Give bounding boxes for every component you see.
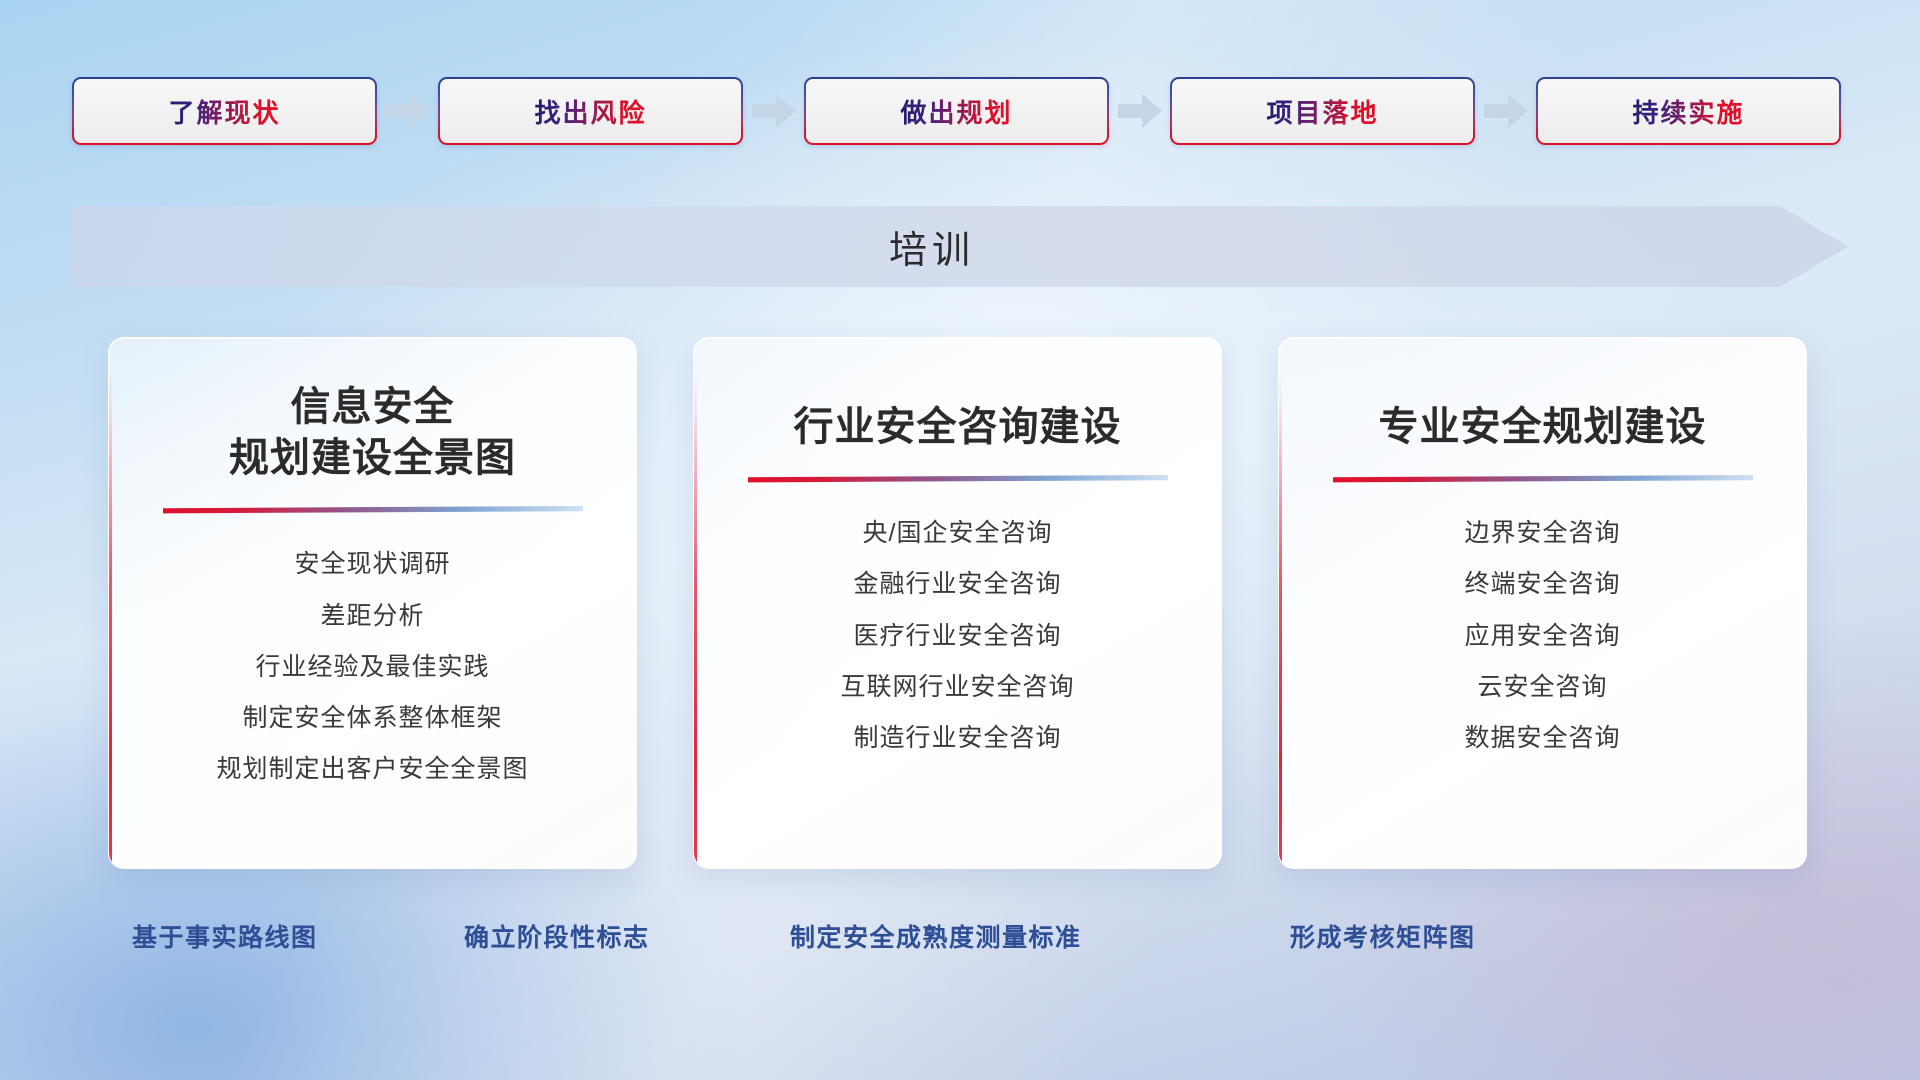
card-item-list: 央/国企安全咨询 金融行业安全咨询 医疗行业安全咨询 互联网行业安全咨询 制造行… — [840, 513, 1074, 759]
step-label: 找出风险 — [534, 93, 646, 130]
arrow-right-icon — [1475, 91, 1536, 131]
list-item: 制定安全体系整体框架 — [242, 698, 502, 739]
training-label: 培训 — [72, 206, 1848, 287]
step-box-5[interactable]: 持续实施 — [1536, 77, 1841, 145]
arrow-right-icon — [743, 91, 804, 131]
card-title: 专业安全规划建设 — [1379, 402, 1707, 453]
footer-label-2: 确立阶段性标志 — [464, 918, 650, 954]
list-item: 央/国企安全咨询 — [863, 513, 1053, 554]
card-divider — [748, 475, 1168, 483]
step-label: 项目落地 — [1266, 93, 1378, 130]
list-item: 终端安全咨询 — [1464, 564, 1620, 605]
list-item: 金融行业安全咨询 — [853, 564, 1061, 605]
step-box-inner: 了解现状 — [74, 79, 375, 143]
card-left-accent-bar — [109, 372, 112, 868]
arrow-right-icon — [1109, 91, 1170, 131]
list-item: 行业经验及最佳实践 — [255, 647, 489, 688]
list-item: 数据安全咨询 — [1464, 718, 1620, 759]
process-step-row: 了解现状 找出风险 做出规划 项目落地 — [72, 76, 1848, 146]
list-item: 差距分析 — [320, 596, 424, 637]
step-label: 了解现状 — [168, 93, 280, 130]
card-item-list: 边界安全咨询 终端安全咨询 应用安全咨询 云安全咨询 数据安全咨询 — [1464, 513, 1620, 759]
card-title: 信息安全 规划建设全景图 — [229, 382, 516, 484]
cards-row: 信息安全 规划建设全景图 安全现状调研 差距分析 行业经验及最佳实践 — [108, 337, 1848, 869]
list-item: 规划制定出客户安全全景图 — [216, 749, 528, 790]
card-title: 行业安全咨询建设 — [794, 402, 1122, 453]
arrow-right-icon — [377, 91, 438, 131]
list-item: 应用安全咨询 — [1464, 616, 1620, 657]
list-item: 医疗行业安全咨询 — [853, 616, 1061, 657]
step-label: 持续实施 — [1632, 93, 1744, 130]
footer-label-row: 基于事实路线图 确立阶段性标志 制定安全成熟度测量标准 形成考核矩阵图 — [0, 918, 1920, 964]
card-industry-security-consulting[interactable]: 行业安全咨询建设 央/国企安全咨询 金融行业安全咨询 医疗行业安全咨询 — [693, 337, 1222, 869]
list-item: 云安全咨询 — [1477, 667, 1607, 708]
card-divider — [1333, 475, 1753, 483]
list-item: 互联网行业安全咨询 — [840, 667, 1074, 708]
training-banner: 培训 — [72, 206, 1848, 287]
list-item: 制造行业安全咨询 — [853, 718, 1061, 759]
step-box-inner: 做出规划 — [806, 79, 1107, 143]
step-box-3[interactable]: 做出规划 — [804, 77, 1109, 145]
card-left-accent-bar — [1279, 372, 1282, 868]
step-box-inner: 找出风险 — [440, 79, 741, 143]
step-box-2[interactable]: 找出风险 — [438, 77, 743, 145]
list-item: 边界安全咨询 — [1464, 513, 1620, 554]
list-item: 安全现状调研 — [294, 544, 450, 585]
footer-label-4: 形成考核矩阵图 — [1290, 918, 1476, 954]
card-divider — [163, 506, 583, 514]
card-left-accent-bar — [694, 372, 697, 868]
step-label: 做出规划 — [900, 93, 1012, 130]
card-professional-security-planning[interactable]: 专业安全规划建设 边界安全咨询 终端安全咨询 应用安全咨询 云安全 — [1278, 337, 1807, 869]
footer-label-1: 基于事实路线图 — [132, 918, 318, 954]
step-box-inner: 项目落地 — [1172, 79, 1473, 143]
step-box-4[interactable]: 项目落地 — [1170, 77, 1475, 145]
step-box-1[interactable]: 了解现状 — [72, 77, 377, 145]
card-information-security-blueprint[interactable]: 信息安全 规划建设全景图 安全现状调研 差距分析 行业经验及最佳实践 — [108, 337, 637, 869]
step-box-inner: 持续实施 — [1538, 79, 1839, 143]
footer-label-3: 制定安全成熟度测量标准 — [790, 918, 1082, 954]
card-item-list: 安全现状调研 差距分析 行业经验及最佳实践 制定安全体系整体框架 规划制定出客户… — [216, 544, 528, 790]
